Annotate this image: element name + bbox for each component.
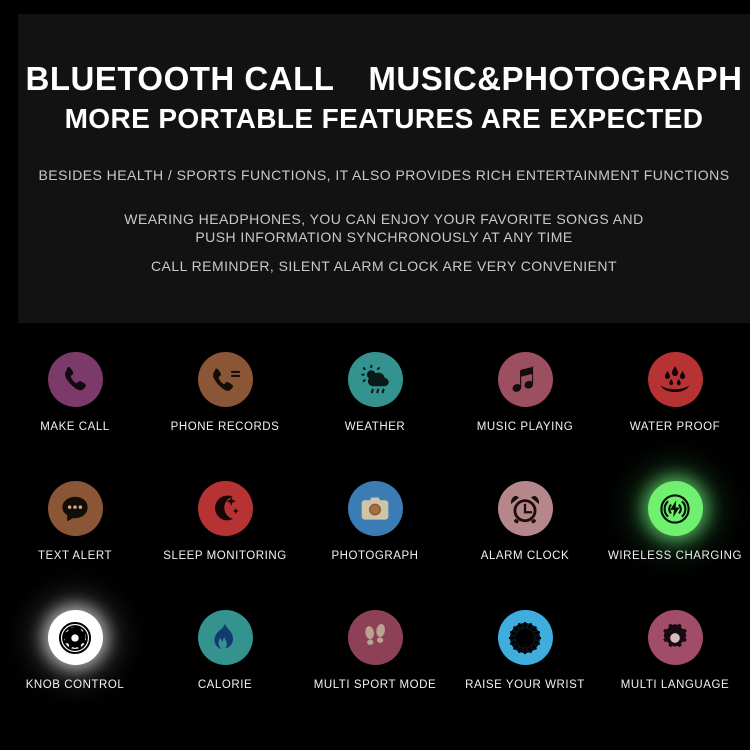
sun-rays-icon[interactable] [498, 610, 553, 665]
hero-text-panel: BLUETOOTH CALLMUSIC&PHOTOGRAPH MORE PORT… [18, 14, 750, 323]
subtext-line-3: CALL REMINDER, SILENT ALARM CLOCK ARE VE… [18, 257, 750, 275]
feature-label: PHOTOGRAPH [331, 550, 418, 562]
feature-item-phone-records[interactable]: PHONE RECORDS [150, 352, 300, 481]
subtext-line-1: BESIDES HEALTH / SPORTS FUNCTIONS, IT AL… [18, 166, 750, 184]
feature-label: ALARM CLOCK [481, 550, 570, 562]
feature-label: PHONE RECORDS [171, 421, 280, 433]
wireless-charging-icon[interactable] [648, 481, 703, 536]
feature-item-music-playing[interactable]: MUSIC PLAYING [450, 352, 600, 481]
music-note-icon[interactable] [498, 352, 553, 407]
camera-icon[interactable] [348, 481, 403, 536]
headline-music-photograph: MUSIC&PHOTOGRAPH [368, 60, 742, 97]
feature-label: MAKE CALL [40, 421, 110, 433]
feature-label: WIRELESS CHARGING [608, 550, 742, 562]
gear-knob-icon[interactable] [48, 610, 103, 665]
feature-item-wireless-charging[interactable]: WIRELESS CHARGING [600, 481, 750, 610]
feature-label: WATER PROOF [630, 421, 720, 433]
water-drops-icon[interactable] [648, 352, 703, 407]
feature-item-multi-sport-mode[interactable]: MULTI SPORT MODE [300, 610, 450, 739]
feature-item-photograph[interactable]: PHOTOGRAPH [300, 481, 450, 610]
feature-label: WEATHER [345, 421, 406, 433]
feature-label: KNOB CONTROL [26, 679, 125, 691]
subtext-line-2b: PUSH INFORMATION SYNCHRONOUSLY AT ANY TI… [18, 228, 750, 246]
phone-records-icon[interactable] [198, 352, 253, 407]
feature-item-alarm-clock[interactable]: ALARM CLOCK [450, 481, 600, 610]
feature-item-knob-control[interactable]: KNOB CONTROL [0, 610, 150, 739]
feature-label: MULTI LANGUAGE [621, 679, 729, 691]
flame-icon[interactable] [198, 610, 253, 665]
feature-label: RAISE YOUR WRIST [465, 679, 585, 691]
feature-label: MULTI SPORT MODE [314, 679, 437, 691]
feature-item-water-proof[interactable]: WATER PROOF [600, 352, 750, 481]
sun-cloud-rain-icon[interactable] [348, 352, 403, 407]
feature-label: TEXT ALERT [38, 550, 112, 562]
headline-secondary: MORE PORTABLE FEATURES ARE EXPECTED [18, 105, 750, 133]
feature-item-raise-your-wrist[interactable]: RAISE YOUR WRIST [450, 610, 600, 739]
feature-item-weather[interactable]: WEATHER [300, 352, 450, 481]
gear-icon[interactable] [648, 610, 703, 665]
footprints-icon[interactable] [348, 610, 403, 665]
headline-primary: BLUETOOTH CALLMUSIC&PHOTOGRAPH [18, 62, 750, 95]
feature-icon-grid: MAKE CALLPHONE RECORDSWEATHERMUSIC PLAYI… [0, 352, 750, 739]
feature-item-text-alert[interactable]: TEXT ALERT [0, 481, 150, 610]
alarm-clock-icon[interactable] [498, 481, 553, 536]
feature-item-calorie[interactable]: CALORIE [150, 610, 300, 739]
feature-item-make-call[interactable]: MAKE CALL [0, 352, 150, 481]
moon-stars-icon[interactable] [198, 481, 253, 536]
chat-bubble-icon[interactable] [48, 481, 103, 536]
feature-label: CALORIE [198, 679, 252, 691]
feature-item-sleep-monitoring[interactable]: SLEEP MONITORING [150, 481, 300, 610]
subtext-line-2: WEARING HEADPHONES, YOU CAN ENJOY YOUR F… [18, 210, 750, 247]
feature-label: MUSIC PLAYING [477, 421, 573, 433]
phone-handset-icon[interactable] [48, 352, 103, 407]
feature-item-multi-language[interactable]: MULTI LANGUAGE [600, 610, 750, 739]
headline-bluetooth-call: BLUETOOTH CALL [26, 60, 335, 97]
subtext-line-2a: WEARING HEADPHONES, YOU CAN ENJOY YOUR F… [18, 210, 750, 228]
feature-label: SLEEP MONITORING [163, 550, 286, 562]
